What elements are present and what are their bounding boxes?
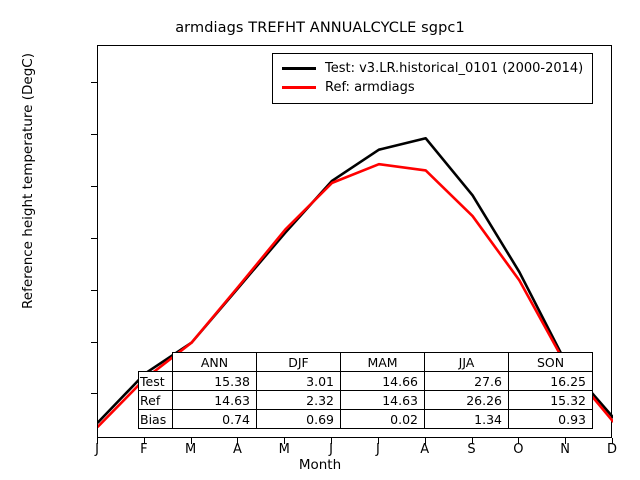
stats-table-head: ANNDJFMAMJJASON [139, 353, 593, 372]
table-cell: 0.69 [257, 410, 341, 429]
chart-figure: armdiags TREFHT ANNUALCYCLE sgpc1 510152… [0, 0, 640, 480]
table-column-header: MAM [341, 353, 425, 372]
table-cell: 0.93 [509, 410, 593, 429]
line-swatch-icon [282, 67, 316, 70]
table-row: Bias0.740.690.021.340.93 [139, 410, 593, 429]
table-column-header: SON [509, 353, 593, 372]
table-cell: 14.63 [173, 391, 257, 410]
page-title: armdiags TREFHT ANNUALCYCLE sgpc1 [0, 20, 640, 36]
legend-label-test: Test: v3.LR.historical_0101 (2000-2014) [325, 61, 583, 76]
legend-label-ref: Ref: armdiags [325, 80, 415, 95]
stats-table-body: Test15.383.0114.6627.616.25Ref14.632.321… [139, 372, 593, 429]
table-cell: 1.34 [425, 410, 509, 429]
x-axis-label: Month [0, 457, 640, 473]
table-column-header: ANN [173, 353, 257, 372]
table-cell: 15.38 [173, 372, 257, 391]
table-cell: 16.25 [509, 372, 593, 391]
x-tick-label: D [597, 443, 627, 456]
table-cell: 14.66 [341, 372, 425, 391]
table-row: Ref14.632.3214.6326.2615.32 [139, 391, 593, 410]
table-cell: 2.32 [257, 391, 341, 410]
x-tick-label: O [503, 443, 533, 456]
table-cell: 15.32 [509, 391, 593, 410]
legend-item-test: Test: v3.LR.historical_0101 (2000-2014) [282, 59, 583, 78]
table-row-label: Ref [139, 391, 173, 410]
stats-table: ANNDJFMAMJJASON Test15.383.0114.6627.616… [138, 352, 593, 429]
table-cell: 3.01 [257, 372, 341, 391]
table-column-header: JJA [425, 353, 509, 372]
x-tick-label: A [410, 443, 440, 456]
x-tick-label: A [222, 443, 252, 456]
table-column-header: DJF [257, 353, 341, 372]
x-tick-label: S [457, 443, 487, 456]
x-tick-label: F [129, 443, 159, 456]
table-cell: 0.74 [173, 410, 257, 429]
table-row: Test15.383.0114.6627.616.25 [139, 372, 593, 391]
table-cell: 26.26 [425, 391, 509, 410]
table-cell: 14.63 [341, 391, 425, 410]
table-corner-cell [139, 353, 173, 372]
legend-item-ref: Ref: armdiags [282, 78, 583, 97]
table-header-row: ANNDJFMAMJJASON [139, 353, 593, 372]
x-tick-label: J [316, 443, 346, 456]
x-tick-label: N [550, 443, 580, 456]
x-tick-label: M [176, 443, 206, 456]
table-row-label: Test [139, 372, 173, 391]
table-row-label: Bias [139, 410, 173, 429]
x-tick-label: J [363, 443, 393, 456]
table-cell: 0.02 [341, 410, 425, 429]
x-tick-label: J [82, 443, 112, 456]
table-cell: 27.6 [425, 372, 509, 391]
line-swatch-icon [282, 86, 316, 89]
y-axis-label: Reference height temperature (DegC) [20, 0, 36, 381]
x-tick-label: M [269, 443, 299, 456]
legend: Test: v3.LR.historical_0101 (2000-2014) … [272, 53, 593, 104]
